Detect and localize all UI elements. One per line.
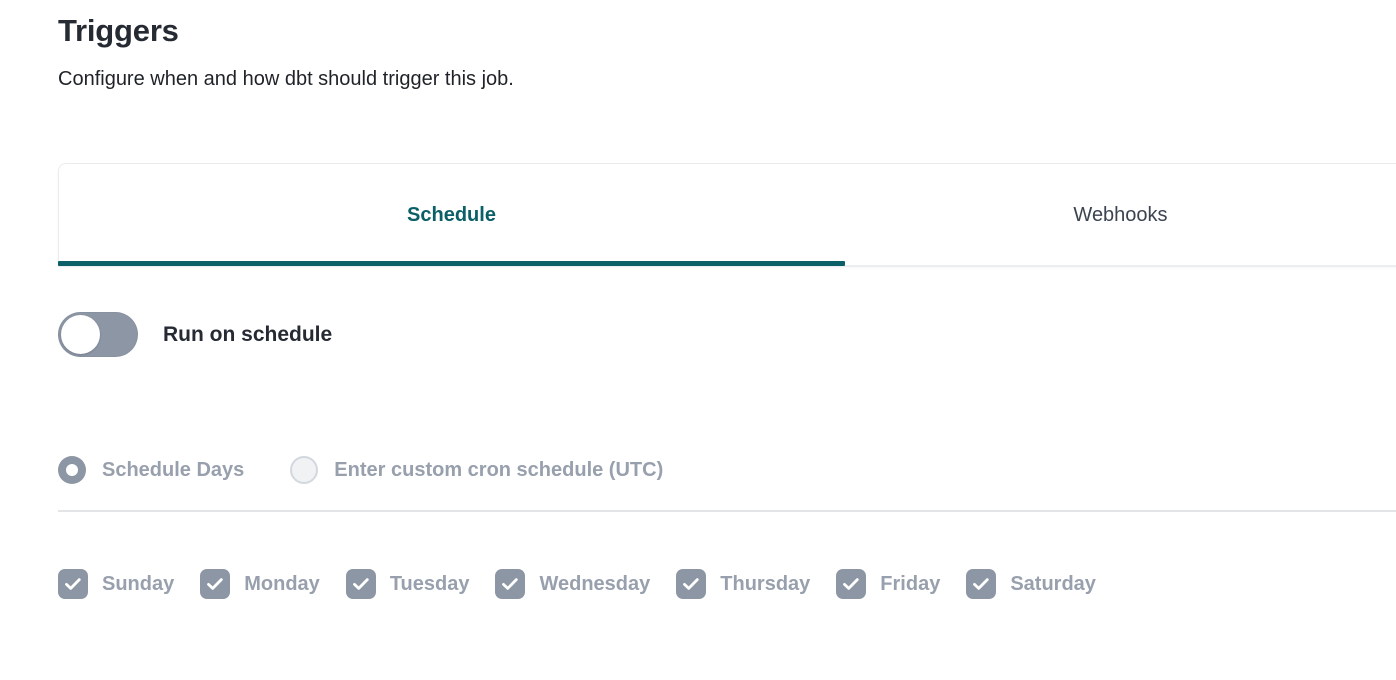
day-label-thursday: Thursday bbox=[720, 573, 810, 596]
radio-selected-icon bbox=[58, 456, 86, 484]
radio-unselected-icon bbox=[290, 456, 318, 484]
day-label-saturday: Saturday bbox=[1010, 573, 1096, 596]
tab-webhooks-label: Webhooks bbox=[1073, 204, 1167, 227]
day-label-monday: Monday bbox=[244, 573, 320, 596]
day-label-sunday: Sunday bbox=[102, 573, 174, 596]
triggers-page: Triggers Configure when and how dbt shou… bbox=[0, 0, 1396, 680]
run-on-schedule-toggle[interactable] bbox=[58, 312, 138, 357]
tab-active-indicator bbox=[58, 261, 845, 266]
schedule-days-group: Sunday Monday Tuesday Wednesday Thursday bbox=[58, 569, 1096, 599]
day-checkbox-wednesday[interactable]: Wednesday bbox=[495, 569, 650, 599]
run-on-schedule-label: Run on schedule bbox=[163, 323, 332, 347]
tab-list: Schedule Webhooks bbox=[58, 163, 1396, 267]
radio-label-schedule-days: Schedule Days bbox=[102, 459, 244, 482]
toggle-knob bbox=[61, 315, 100, 354]
check-icon bbox=[346, 569, 376, 599]
tab-schedule-label: Schedule bbox=[407, 204, 496, 227]
radio-option-schedule-days[interactable]: Schedule Days bbox=[58, 456, 244, 484]
schedule-mode-radio-group: Schedule Days Enter custom cron schedule… bbox=[58, 456, 663, 484]
day-checkbox-monday[interactable]: Monday bbox=[200, 569, 320, 599]
check-icon bbox=[200, 569, 230, 599]
run-on-schedule-row: Run on schedule bbox=[58, 312, 332, 357]
day-label-wednesday: Wednesday bbox=[539, 573, 650, 596]
page-title: Triggers bbox=[58, 10, 1258, 52]
section-divider bbox=[58, 510, 1396, 512]
check-icon bbox=[495, 569, 525, 599]
radio-label-custom-cron: Enter custom cron schedule (UTC) bbox=[334, 459, 663, 482]
check-icon bbox=[836, 569, 866, 599]
day-label-tuesday: Tuesday bbox=[390, 573, 470, 596]
page-subtitle: Configure when and how dbt should trigge… bbox=[58, 52, 1258, 94]
check-icon bbox=[966, 569, 996, 599]
day-checkbox-thursday[interactable]: Thursday bbox=[676, 569, 810, 599]
page-header: Triggers Configure when and how dbt shou… bbox=[58, 10, 1258, 94]
radio-option-custom-cron[interactable]: Enter custom cron schedule (UTC) bbox=[290, 456, 663, 484]
tab-webhooks[interactable]: Webhooks bbox=[845, 163, 1396, 267]
tab-schedule[interactable]: Schedule bbox=[58, 163, 845, 267]
day-checkbox-friday[interactable]: Friday bbox=[836, 569, 940, 599]
check-icon bbox=[676, 569, 706, 599]
check-icon bbox=[58, 569, 88, 599]
day-checkbox-sunday[interactable]: Sunday bbox=[58, 569, 174, 599]
day-checkbox-tuesday[interactable]: Tuesday bbox=[346, 569, 470, 599]
day-checkbox-saturday[interactable]: Saturday bbox=[966, 569, 1096, 599]
day-label-friday: Friday bbox=[880, 573, 940, 596]
